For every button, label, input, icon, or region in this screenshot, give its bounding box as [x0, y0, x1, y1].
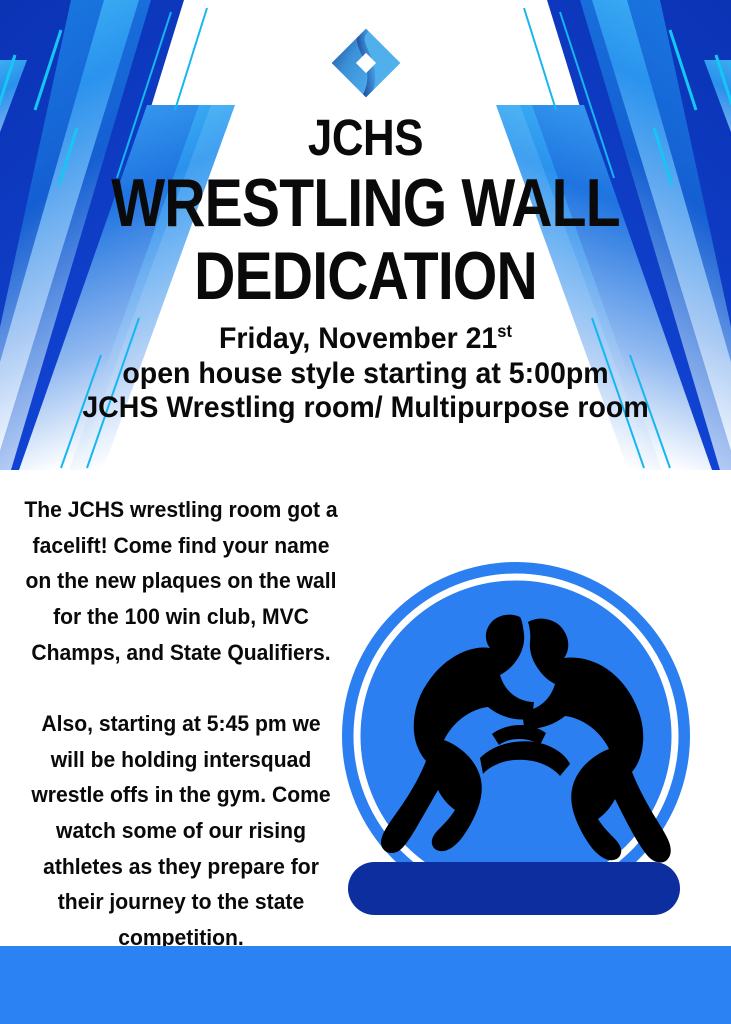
- page-title-line2: DEDICATION: [58, 242, 672, 311]
- body-text-column: The JCHS wrestling room got a facelift! …: [16, 470, 346, 978]
- header-block: JCHS WRESTLING WALL DEDICATION Friday, N…: [0, 0, 731, 426]
- event-date-ordinal: st: [497, 321, 512, 341]
- event-date: Friday, November 21st: [18, 322, 712, 357]
- diamond-logo-icon: [330, 26, 402, 100]
- page-title-line1: WRESTLING WALL: [58, 169, 672, 238]
- event-details: Friday, November 21st open house style s…: [0, 322, 731, 426]
- jchs-diamond-logo: [330, 26, 402, 100]
- event-time: open house style starting at 5:00pm: [18, 357, 712, 392]
- poster-root: JCHS WRESTLING WALL DEDICATION Friday, N…: [0, 0, 731, 1024]
- page-title-org: JCHS: [51, 112, 680, 163]
- body-paragraph-1: The JCHS wrestling room got a facelift! …: [23, 492, 340, 670]
- bottom-banner: [0, 946, 731, 1024]
- event-date-text: Friday, November 21: [219, 322, 497, 355]
- body-paragraph-2: Also, starting at 5:45 pm we will be hol…: [23, 706, 340, 955]
- wrestlers-emblem: [342, 562, 690, 910]
- mat-base: [348, 862, 680, 915]
- event-location: JCHS Wrestling room/ Multipurpose room: [18, 391, 712, 426]
